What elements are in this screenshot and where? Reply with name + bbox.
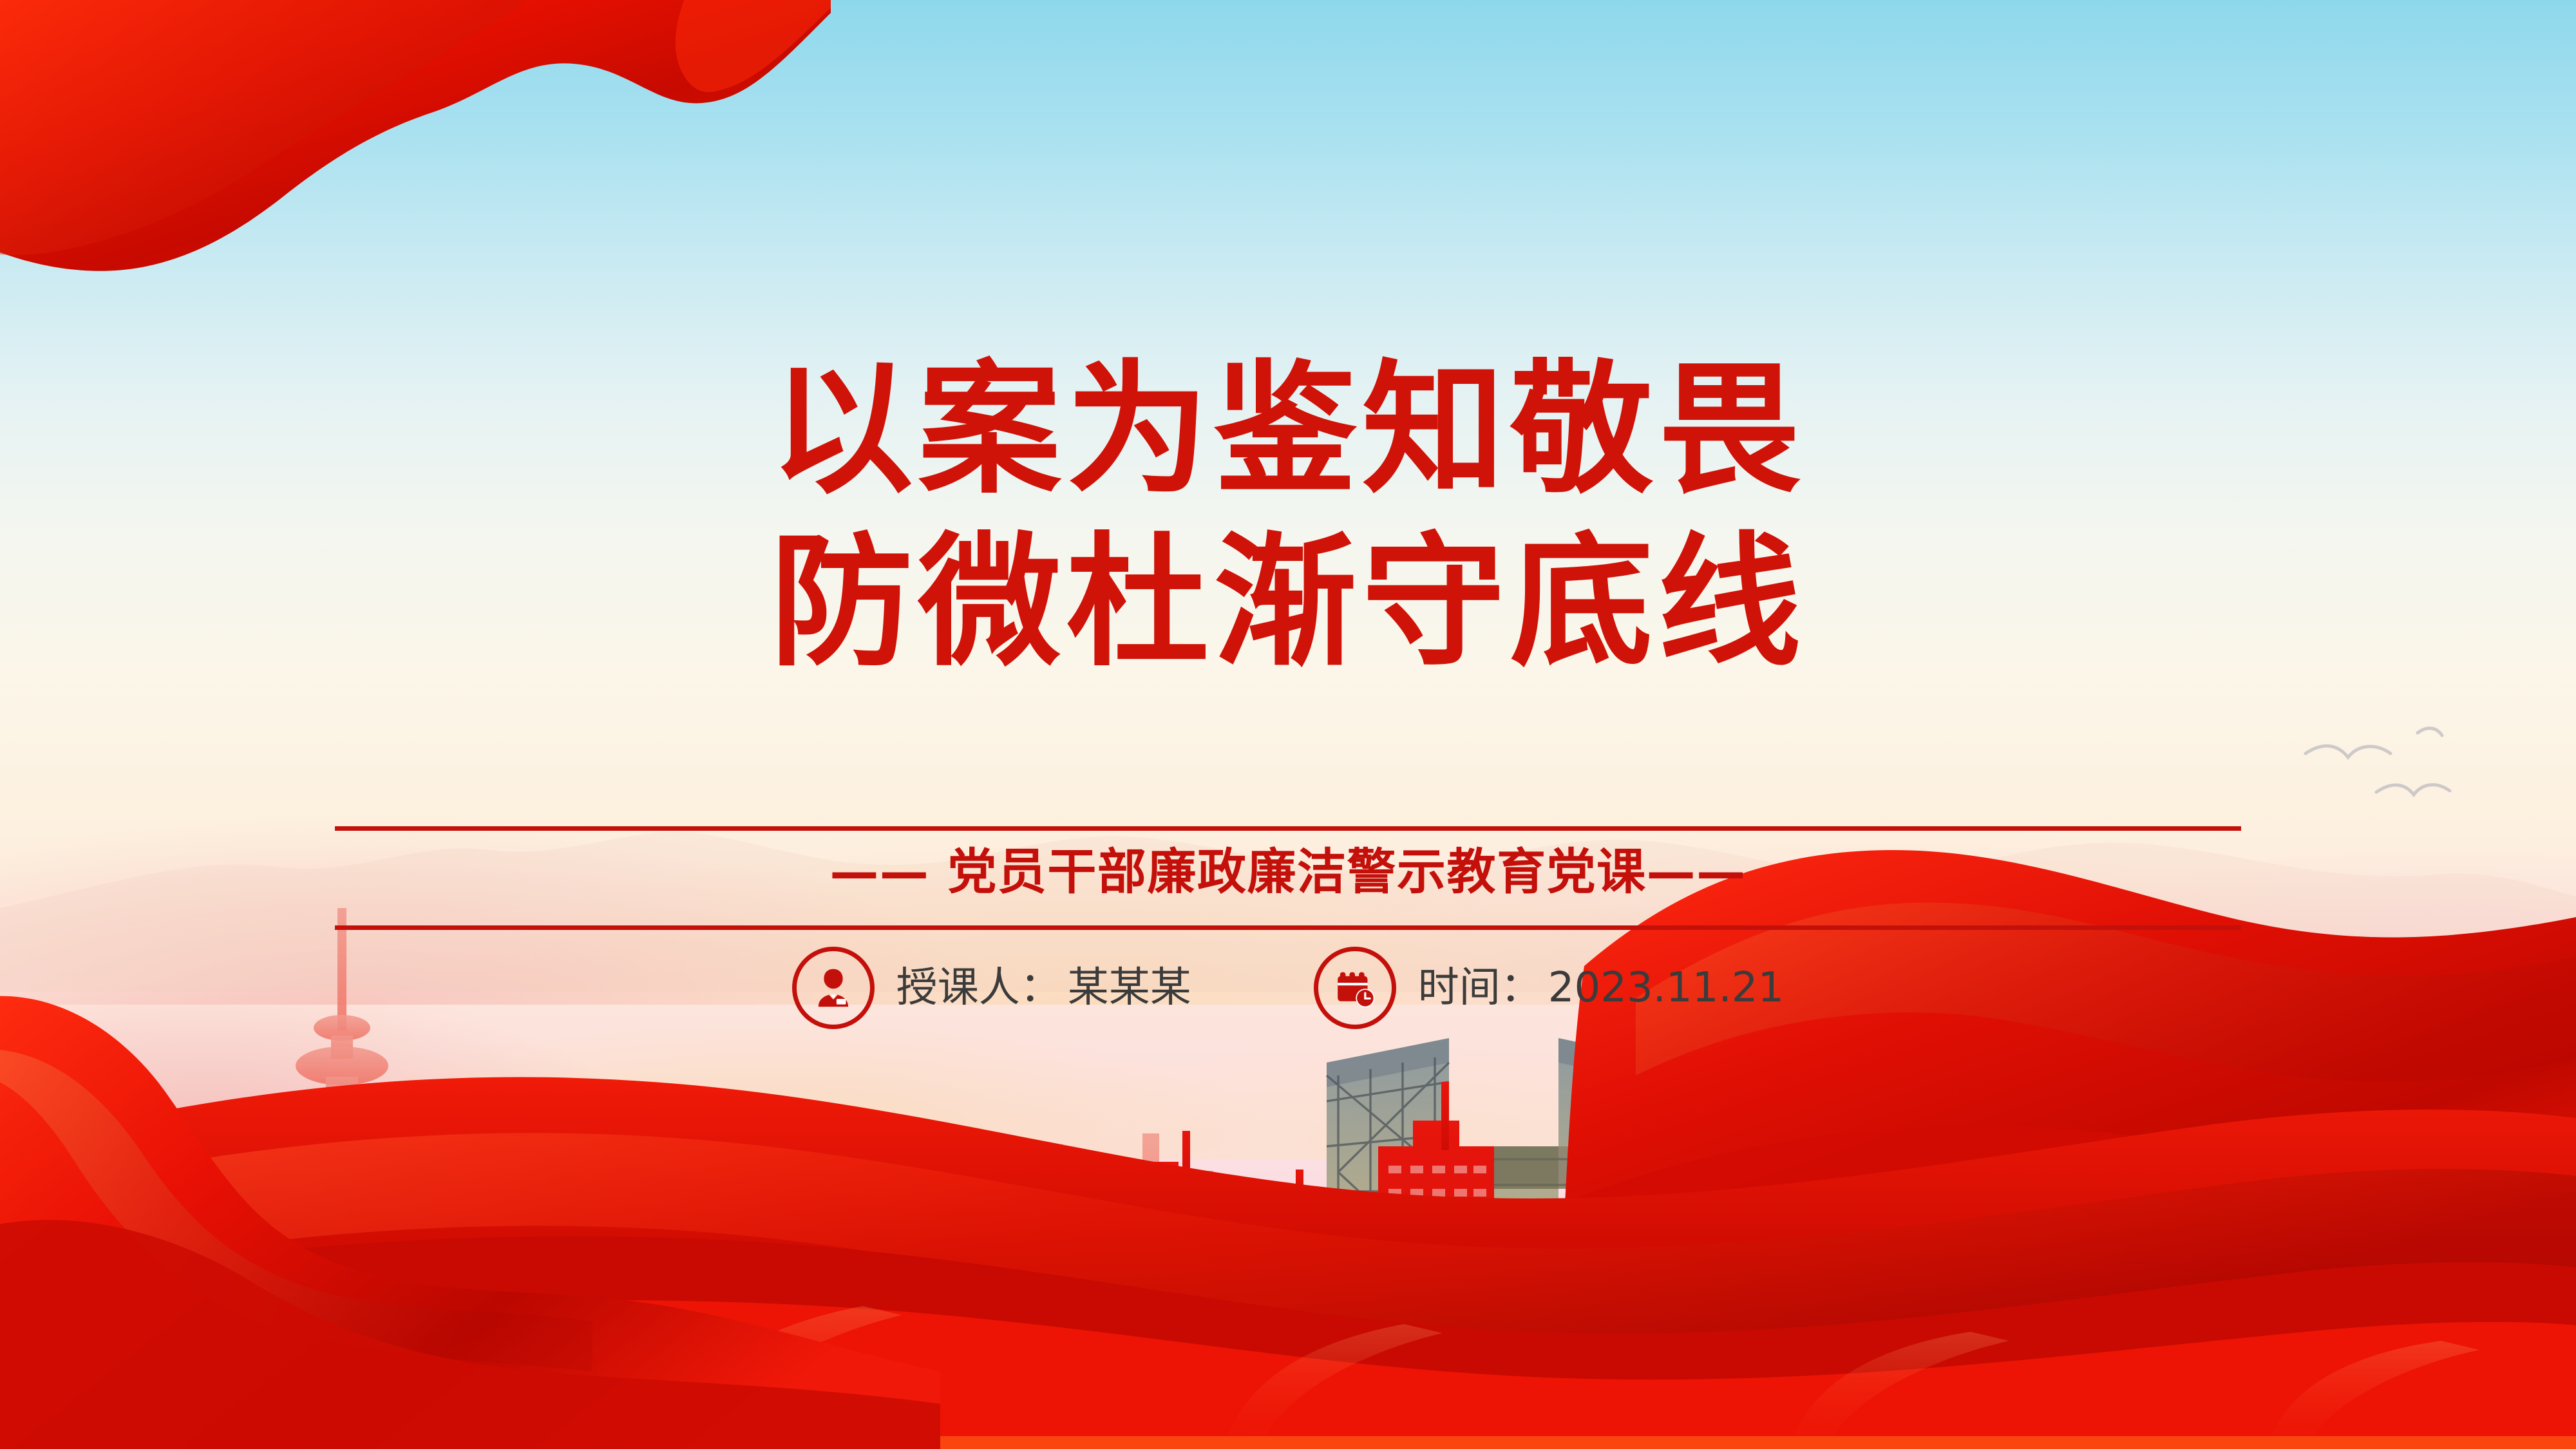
title-line-2: 防微杜渐守底线 — [0, 530, 2576, 676]
presenter-value: 某某某 — [1068, 964, 1191, 1012]
title-block: 以案为鉴知敬畏 防微杜渐守底线 — [0, 357, 2576, 676]
huabiao-column-shape — [2292, 973, 2502, 1359]
presenter-info: 授课人：某某某 — [792, 947, 1191, 1029]
date-text: 时间：2023.11.21 — [1418, 967, 1784, 1009]
divider-line-top — [335, 826, 2241, 831]
presenter-text: 授课人：某某某 — [896, 967, 1191, 1009]
date-label: 时间： — [1418, 964, 1542, 1012]
subtitle-text: —— 党员干部廉政廉洁警示教育党课—— — [829, 848, 1746, 896]
calendar-clock-icon — [1314, 947, 1396, 1029]
date-info: 时间：2023.11.21 — [1314, 947, 1784, 1029]
flying-birds-icon — [2280, 696, 2473, 837]
red-silk-drape-bottom — [0, 985, 2576, 1449]
presenter-label: 授课人： — [896, 964, 1061, 1012]
red-silk-left — [0, 960, 940, 1449]
slide-canvas: 以案为鉴知敬畏 防微杜渐守底线 —— 党员干部廉政廉洁警示教育党课—— 授课人：… — [0, 0, 2576, 1449]
subtitle-row: —— 党员干部廉政廉洁警示教育党课—— — [0, 848, 2576, 896]
red-skyline-buildings — [612, 1082, 2215, 1404]
waving-flag-top-left — [0, 0, 831, 277]
person-badge-icon — [792, 947, 875, 1029]
cctv-headquarters-shape — [1327, 1038, 1674, 1378]
info-row: 授课人：某某某 时间：2023.11.21 — [0, 947, 2576, 1029]
red-flag-ribbon-right — [1558, 753, 2576, 1333]
gold-glow-arc — [0, 1327, 2576, 1410]
water-cube-shape — [277, 1088, 699, 1378]
title-line-1: 以案为鉴知敬畏 — [0, 357, 2576, 503]
national-grand-theatre-shape — [1765, 1243, 2241, 1378]
divider-line-bottom — [335, 925, 2241, 930]
date-value: 2023.11.21 — [1548, 964, 1784, 1012]
birds-nest-stadium-shape — [663, 1267, 1166, 1378]
